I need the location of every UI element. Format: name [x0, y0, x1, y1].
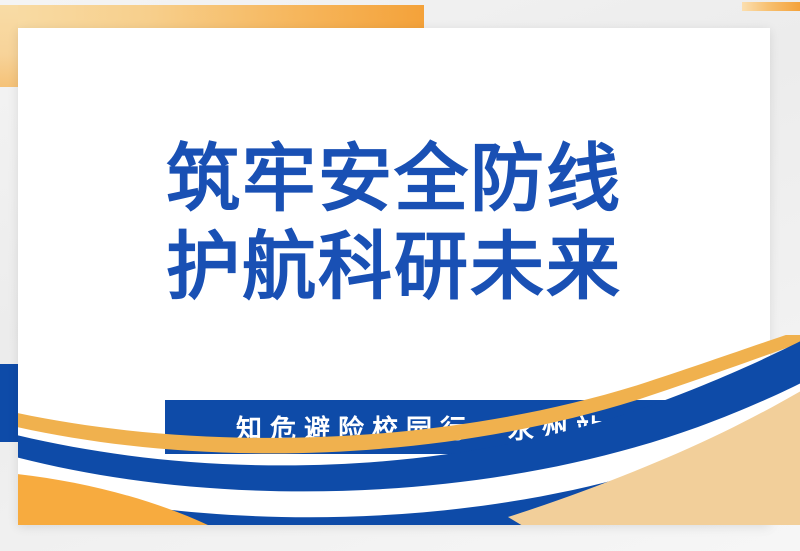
poster-content-card: 筑牢安全防线 护航科研未来 知危避险校园行—永州站 [18, 28, 770, 525]
poster-canvas: 筑牢安全防线 护航科研未来 知危避险校园行—永州站 [0, 0, 800, 551]
gold-top-accent-bar [0, 5, 424, 28]
orange-bottom-left-wedge [18, 473, 228, 525]
subtitle-text: 知危避险校园行—永州站 [228, 409, 610, 446]
headline-line-1: 筑牢安全防线 [18, 140, 770, 218]
blue-left-accent-tab [0, 364, 18, 442]
gold-left-accent-bar [0, 5, 18, 87]
subtitle-ribbon: 知危避险校园行—永州站 [165, 400, 673, 454]
headline-line-2: 护航科研未来 [18, 228, 770, 306]
poster-headline: 筑牢安全防线 护航科研未来 [18, 140, 770, 307]
gold-top-right-accent-bar [742, 2, 800, 11]
